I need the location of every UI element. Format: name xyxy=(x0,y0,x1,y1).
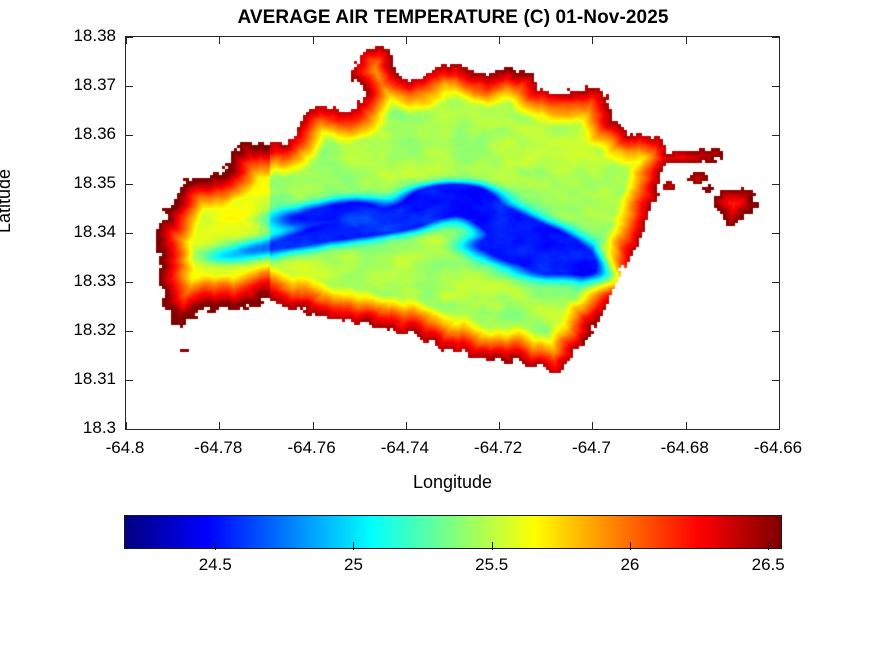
y-tick-mark xyxy=(772,37,779,38)
temperature-heatmap xyxy=(126,37,779,429)
y-tick-mark xyxy=(126,233,133,234)
x-tick-label: -64.7 xyxy=(572,439,611,456)
y-tick-label: 18.35 xyxy=(73,174,116,191)
x-tick-mark xyxy=(592,422,593,429)
x-tick-label: -64.66 xyxy=(754,439,802,456)
colorbar-tick-label: 26.5 xyxy=(752,556,785,574)
y-tick-label: 18.36 xyxy=(73,125,116,142)
x-tick-mark xyxy=(406,37,407,44)
colorbar-tick-mark xyxy=(215,542,216,550)
x-axis-label: Longitude xyxy=(125,472,780,492)
map-axes xyxy=(125,36,780,430)
x-tick-mark xyxy=(592,37,593,44)
y-tick-mark xyxy=(126,282,133,283)
y-tick-mark xyxy=(126,184,133,185)
page-title: AVERAGE AIR TEMPERATURE (C) 01-Nov-2025 xyxy=(125,6,781,30)
y-tick-mark xyxy=(772,135,779,136)
y-tick-mark xyxy=(772,184,779,185)
y-tick-mark xyxy=(126,135,133,136)
colorbar xyxy=(124,515,782,549)
colorbar-tick-mark xyxy=(630,542,631,550)
y-tick-label: 18.33 xyxy=(73,272,116,289)
y-tick-mark xyxy=(126,86,133,87)
y-tick-label: 18.38 xyxy=(73,27,116,44)
x-tick-mark xyxy=(126,37,127,44)
x-tick-label: -64.8 xyxy=(106,439,145,456)
x-tick-mark xyxy=(686,422,687,429)
y-tick-label: 18.37 xyxy=(73,76,116,93)
y-tick-mark xyxy=(772,282,779,283)
y-tick-label: 18.34 xyxy=(73,223,116,240)
y-tick-label: 18.32 xyxy=(73,321,116,338)
x-tick-label: -64.76 xyxy=(287,439,335,456)
figure-canvas: AVERAGE AIR TEMPERATURE (C) 01-Nov-2025 … xyxy=(0,0,875,656)
colorbar-tick-mark xyxy=(353,542,354,550)
x-tick-mark xyxy=(219,37,220,44)
y-tick-label: 18.3 xyxy=(83,419,116,436)
y-tick-mark xyxy=(772,86,779,87)
colorbar-tick-mark xyxy=(492,542,493,550)
colorbar-tick-label: 24.5 xyxy=(199,556,232,574)
y-tick-mark xyxy=(126,380,133,381)
y-tick-mark xyxy=(126,37,133,38)
x-tick-mark xyxy=(499,422,500,429)
y-tick-mark xyxy=(126,331,133,332)
x-tick-label: -64.78 xyxy=(194,439,242,456)
x-tick-mark xyxy=(313,422,314,429)
colorbar-tick-label: 25 xyxy=(344,556,363,574)
x-tick-label: -64.74 xyxy=(381,439,429,456)
y-axis-label: Latitude xyxy=(0,169,13,233)
x-tick-mark xyxy=(406,422,407,429)
colorbar-tick-label: 25.5 xyxy=(475,556,508,574)
x-tick-mark xyxy=(779,37,780,44)
y-tick-mark xyxy=(772,233,779,234)
x-tick-mark xyxy=(126,422,127,429)
y-tick-mark xyxy=(772,429,779,430)
x-tick-mark xyxy=(779,422,780,429)
colorbar-tick-mark xyxy=(768,542,769,550)
x-tick-label: -64.68 xyxy=(661,439,709,456)
y-tick-label: 18.31 xyxy=(73,370,116,387)
y-tick-mark xyxy=(772,380,779,381)
x-tick-mark xyxy=(686,37,687,44)
x-tick-label: -64.72 xyxy=(474,439,522,456)
x-tick-mark xyxy=(313,37,314,44)
colorbar-tick-label: 26 xyxy=(620,556,639,574)
y-tick-mark xyxy=(772,331,779,332)
x-tick-mark xyxy=(219,422,220,429)
colorbar-gradient xyxy=(124,515,782,549)
x-tick-mark xyxy=(499,37,500,44)
y-tick-mark xyxy=(126,429,133,430)
